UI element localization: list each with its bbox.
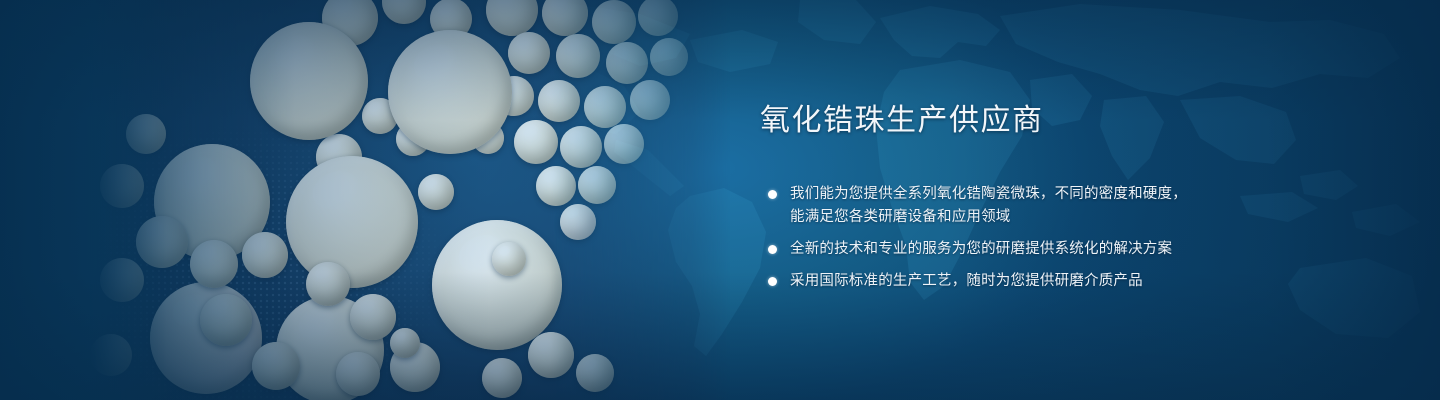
list-item: 全新的技术和专业的服务为您的研磨提供系统化的解决方案 (760, 238, 1400, 261)
hero-banner: 氧化锆珠生产供应商 我们能为您提供全系列氧化锆陶瓷微珠，不同的密度和硬度， 能满… (0, 0, 1440, 400)
banner-content: 氧化锆珠生产供应商 我们能为您提供全系列氧化锆陶瓷微珠，不同的密度和硬度， 能满… (760, 104, 1400, 293)
list-item: 我们能为您提供全系列氧化锆陶瓷微珠，不同的密度和硬度， 能满足您各类研磨设备和应… (760, 183, 1400, 229)
bullet-dot-icon (768, 190, 777, 199)
list-item-line: 采用国际标准的生产工艺，随时为您提供研磨介质产品 (790, 270, 1400, 293)
bullet-dot-icon (768, 245, 777, 254)
list-item-line: 能满足您各类研磨设备和应用领域 (790, 206, 1400, 229)
feature-list: 我们能为您提供全系列氧化锆陶瓷微珠，不同的密度和硬度， 能满足您各类研磨设备和应… (760, 183, 1400, 293)
list-item: 采用国际标准的生产工艺，随时为您提供研磨介质产品 (760, 270, 1400, 293)
list-item-line: 全新的技术和专业的服务为您的研磨提供系统化的解决方案 (790, 238, 1400, 261)
page-title: 氧化锆珠生产供应商 (760, 104, 1400, 139)
list-item-line: 我们能为您提供全系列氧化锆陶瓷微珠，不同的密度和硬度， (790, 183, 1400, 206)
bullet-dot-icon (768, 277, 777, 286)
